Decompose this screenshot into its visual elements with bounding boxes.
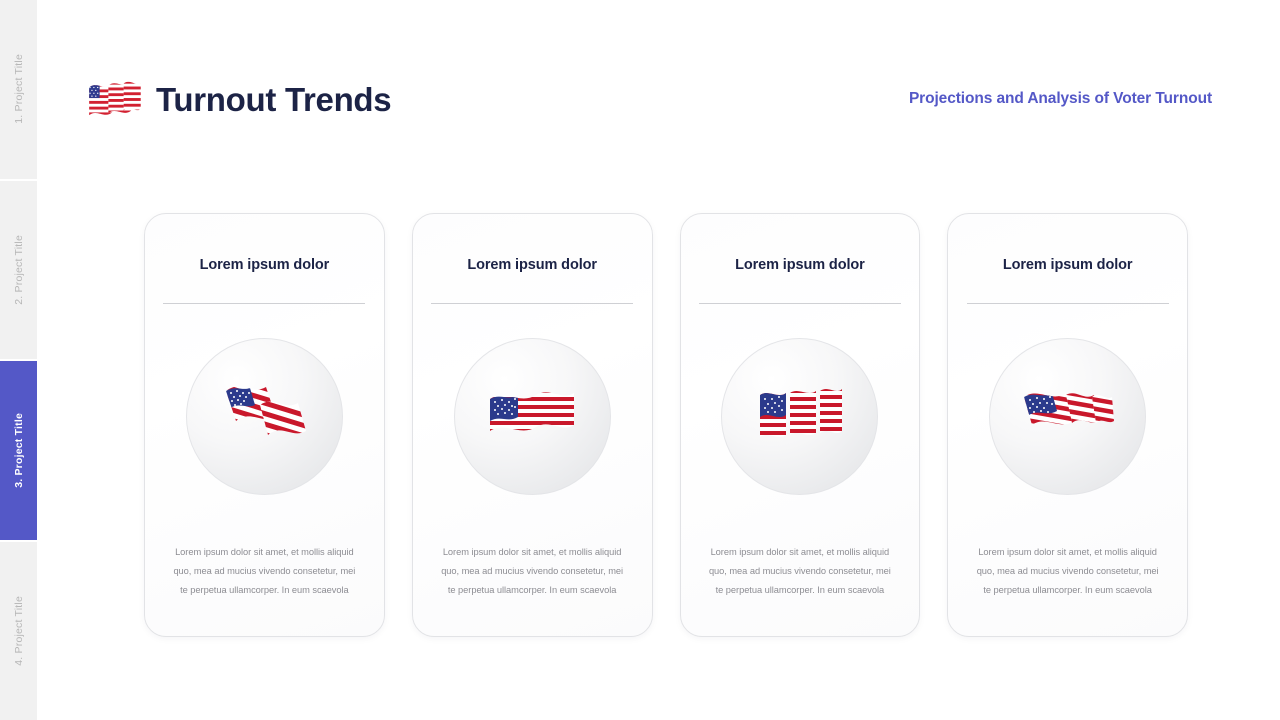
sidebar-item-label: 3. Project Title <box>13 413 25 488</box>
slide-header: Turnout Trends Projections and Analysis … <box>0 0 1280 190</box>
card-3[interactable]: Lorem ipsum dolor <box>680 213 921 637</box>
card-title: Lorem ipsum dolor <box>735 257 865 273</box>
card-divider <box>967 303 1169 304</box>
sidebar-item-label: 4. Project Title <box>13 596 25 666</box>
card-divider <box>163 303 365 304</box>
sidebar-item-label: 2. Project Title <box>13 235 25 305</box>
title-group: Turnout Trends <box>85 76 391 122</box>
usa-flag-icon <box>85 76 143 122</box>
card-body: Lorem ipsum dolor sit amet, et mollis al… <box>431 543 634 616</box>
card-icon-circle <box>721 338 878 495</box>
card-body: Lorem ipsum dolor sit amet, et mollis al… <box>699 543 902 616</box>
card-icon-circle <box>186 338 343 495</box>
usa-flag-diagonal-wave-icon <box>208 361 320 473</box>
card-1[interactable]: Lorem ipsum dolor <box>144 213 385 637</box>
sidebar-item-3[interactable]: 3. Project Title <box>0 361 37 540</box>
card-title: Lorem ipsum dolor <box>1003 257 1133 273</box>
usa-flag-flowing-wave-icon <box>1012 361 1124 473</box>
card-body: Lorem ipsum dolor sit amet, et mollis al… <box>966 543 1169 616</box>
usa-flag-horizontal-wave-icon <box>476 361 588 473</box>
page-subtitle: Projections and Analysis of Voter Turnou… <box>909 90 1212 108</box>
slide-root: 1. Project Title 2. Project Title 3. Pro… <box>0 0 1280 720</box>
card-row: Lorem ipsum dolor <box>144 213 1188 637</box>
card-divider <box>431 303 633 304</box>
page-title: Turnout Trends <box>156 83 391 116</box>
card-icon-circle <box>454 338 611 495</box>
sidebar-item-2[interactable]: 2. Project Title <box>0 181 37 360</box>
card-4[interactable]: Lorem ipsum dolor <box>947 213 1188 637</box>
usa-flag-vertical-ripple-icon <box>744 361 856 473</box>
card-body: Lorem ipsum dolor sit amet, et mollis al… <box>163 543 366 616</box>
card-title: Lorem ipsum dolor <box>467 257 597 273</box>
card-2[interactable]: Lorem ipsum dolor <box>412 213 653 637</box>
card-title: Lorem ipsum dolor <box>200 257 330 273</box>
sidebar-item-4[interactable]: 4. Project Title <box>0 542 37 720</box>
card-icon-circle <box>989 338 1146 495</box>
card-divider <box>699 303 901 304</box>
